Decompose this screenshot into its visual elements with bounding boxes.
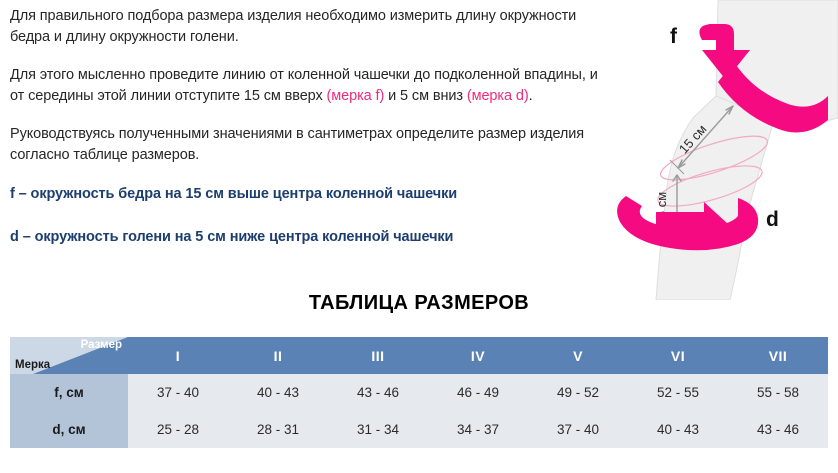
leg-measurement-illustration: 15 см 5 см f d xyxy=(598,0,838,300)
size-table-body: f, см 37 - 40 40 - 43 43 - 46 46 - 49 49… xyxy=(10,374,828,448)
legend-line-d: d – окружность голени на 5 см ниже центр… xyxy=(10,227,610,248)
label-d-icon: d xyxy=(766,208,779,231)
size-table-header-row: Размер Мерка I II III IV V VI VII xyxy=(10,337,828,374)
corner-label-measure: Мерка xyxy=(15,358,50,372)
table-row: d, см 25 - 28 28 - 31 31 - 34 34 - 37 37… xyxy=(10,411,828,448)
cell-f-4: 46 - 49 xyxy=(428,374,528,411)
cell-d-1: 25 - 28 xyxy=(128,411,228,448)
cell-d-7: 43 - 46 xyxy=(728,411,828,448)
cell-d-3: 31 - 34 xyxy=(328,411,428,448)
measure-f-note: (мерка f) xyxy=(327,88,385,104)
table-corner-cell: Размер Мерка xyxy=(10,337,128,374)
cell-f-5: 49 - 52 xyxy=(528,374,628,411)
cell-d-6: 40 - 43 xyxy=(628,411,728,448)
column-header-1: I xyxy=(128,337,228,374)
cell-f-6: 52 - 55 xyxy=(628,374,728,411)
legend-d-variable: d xyxy=(10,229,19,245)
column-header-2: II xyxy=(228,337,328,374)
legend-f-description: – окружность бедра на 15 см выше центра … xyxy=(15,186,457,202)
column-header-5: V xyxy=(528,337,628,374)
instructions-text-column: Для правильного подбора размера изделия … xyxy=(10,6,610,270)
cell-f-1: 37 - 40 xyxy=(128,374,228,411)
corner-label-size: Размер xyxy=(81,338,122,352)
cell-d-2: 28 - 31 xyxy=(228,411,328,448)
intro-paragraph-2-part-2: и 5 см вниз xyxy=(384,88,467,104)
column-header-3: III xyxy=(328,337,428,374)
row-label-d: d, см xyxy=(10,411,128,448)
page-title: ТАБЛИЦА РАЗМЕРОВ xyxy=(0,292,838,315)
cell-f-2: 40 - 43 xyxy=(228,374,328,411)
intro-illustration-area: Для правильного подбора размера изделия … xyxy=(0,0,838,290)
intro-paragraph-2-part-3: . xyxy=(529,88,533,104)
column-header-7: VII xyxy=(728,337,828,374)
intro-paragraph-3: Руководствуясь полученными значениями в … xyxy=(10,124,610,166)
size-table: Размер Мерка I II III IV V VI VII f, см … xyxy=(10,337,828,448)
column-header-6: VI xyxy=(628,337,728,374)
cell-f-3: 43 - 46 xyxy=(328,374,428,411)
measure-d-note: (мерка d) xyxy=(467,88,529,104)
table-row: f, см 37 - 40 40 - 43 43 - 46 46 - 49 49… xyxy=(10,374,828,411)
column-header-4: IV xyxy=(428,337,528,374)
size-table-head: Размер Мерка I II III IV V VI VII xyxy=(10,337,828,374)
legend-line-f: f – окружность бедра на 15 см выше центр… xyxy=(10,184,610,205)
intro-paragraph-1: Для правильного подбора размера изделия … xyxy=(10,6,610,48)
label-f-icon: f xyxy=(670,25,678,48)
legend-d-description: – окружность голени на 5 см ниже центра … xyxy=(19,229,454,245)
cell-f-7: 55 - 58 xyxy=(728,374,828,411)
row-label-f: f, см xyxy=(10,374,128,411)
cell-d-5: 37 - 40 xyxy=(528,411,628,448)
intro-paragraph-2: Для этого мысленно проведите линию от ко… xyxy=(10,65,610,107)
cell-d-4: 34 - 37 xyxy=(428,411,528,448)
